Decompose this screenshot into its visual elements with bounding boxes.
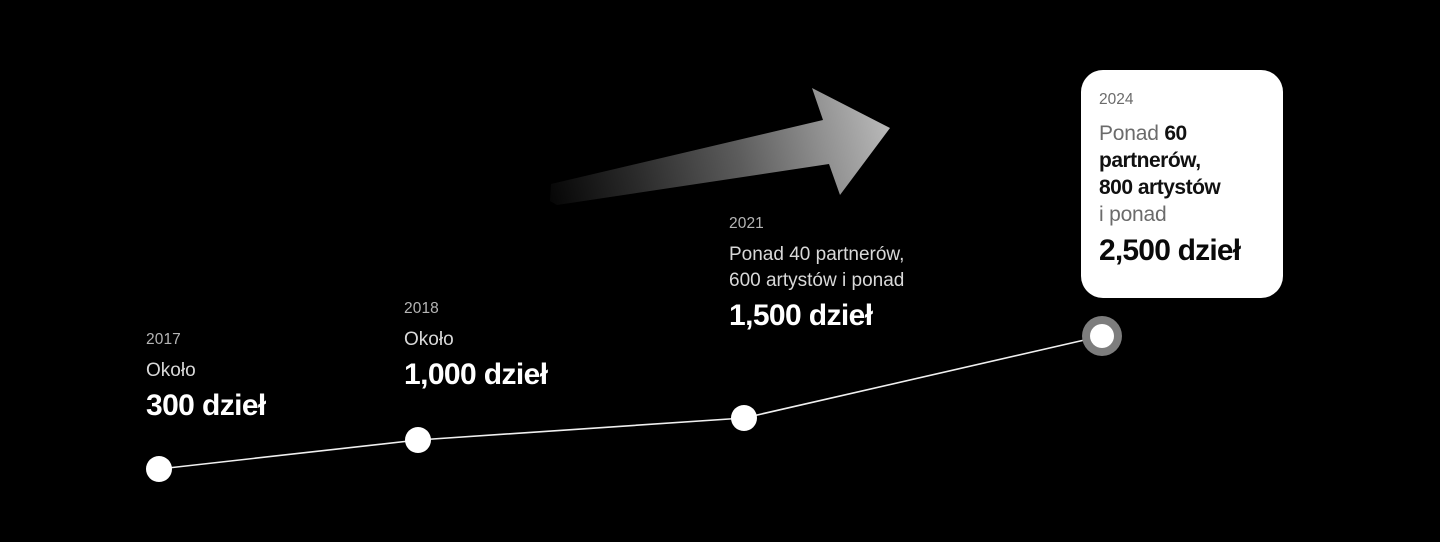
data-point-2017[interactable] — [146, 456, 172, 482]
milestone-2024-card[interactable]: 2024 Ponad 60 partnerów,800 artystówi po… — [1081, 70, 1283, 298]
milestone-2021-year: 2021 — [729, 214, 904, 234]
milestone-2024-i-ponad: i ponad — [1099, 203, 1167, 226]
growth-arrow-icon — [550, 88, 890, 205]
milestone-2024-year: 2024 — [1099, 90, 1265, 110]
milestone-2021: 2021 Ponad 40 partnerów, 600 artystów i … — [729, 214, 904, 334]
milestone-2017: 2017 Około 300 dzieł — [146, 330, 266, 424]
data-point-2021[interactable] — [731, 405, 757, 431]
milestone-2018-year: 2018 — [404, 299, 548, 319]
milestone-2024-ponad: Ponad — [1099, 122, 1164, 145]
milestone-2018-value: 1,000 dzieł — [404, 357, 548, 393]
milestone-2024-bold-2: 800 artystów — [1099, 176, 1220, 199]
data-point-2024[interactable] — [1082, 316, 1122, 356]
milestone-2021-value: 1,500 dzieł — [729, 298, 904, 334]
infographic-canvas: 2017 Około 300 dzieł 2018 Około 1,000 dz… — [0, 0, 1440, 542]
milestone-2024-value: 2,500 dzieł — [1099, 233, 1265, 269]
milestone-2018-lead: Około — [404, 327, 548, 353]
milestone-2017-lead: Około — [146, 358, 266, 384]
milestone-2021-lead-line2: 600 artystów i ponad — [729, 268, 904, 294]
data-point-2018[interactable] — [405, 427, 431, 453]
trend-line — [159, 336, 1102, 469]
milestone-2017-value: 300 dzieł — [146, 388, 266, 424]
milestone-2024-body: Ponad 60 partnerów,800 artystówi ponad — [1099, 120, 1265, 228]
milestone-2018: 2018 Około 1,000 dzieł — [404, 299, 548, 393]
milestone-2021-lead-line1: Ponad 40 partnerów, — [729, 242, 904, 268]
milestone-2017-year: 2017 — [146, 330, 266, 350]
